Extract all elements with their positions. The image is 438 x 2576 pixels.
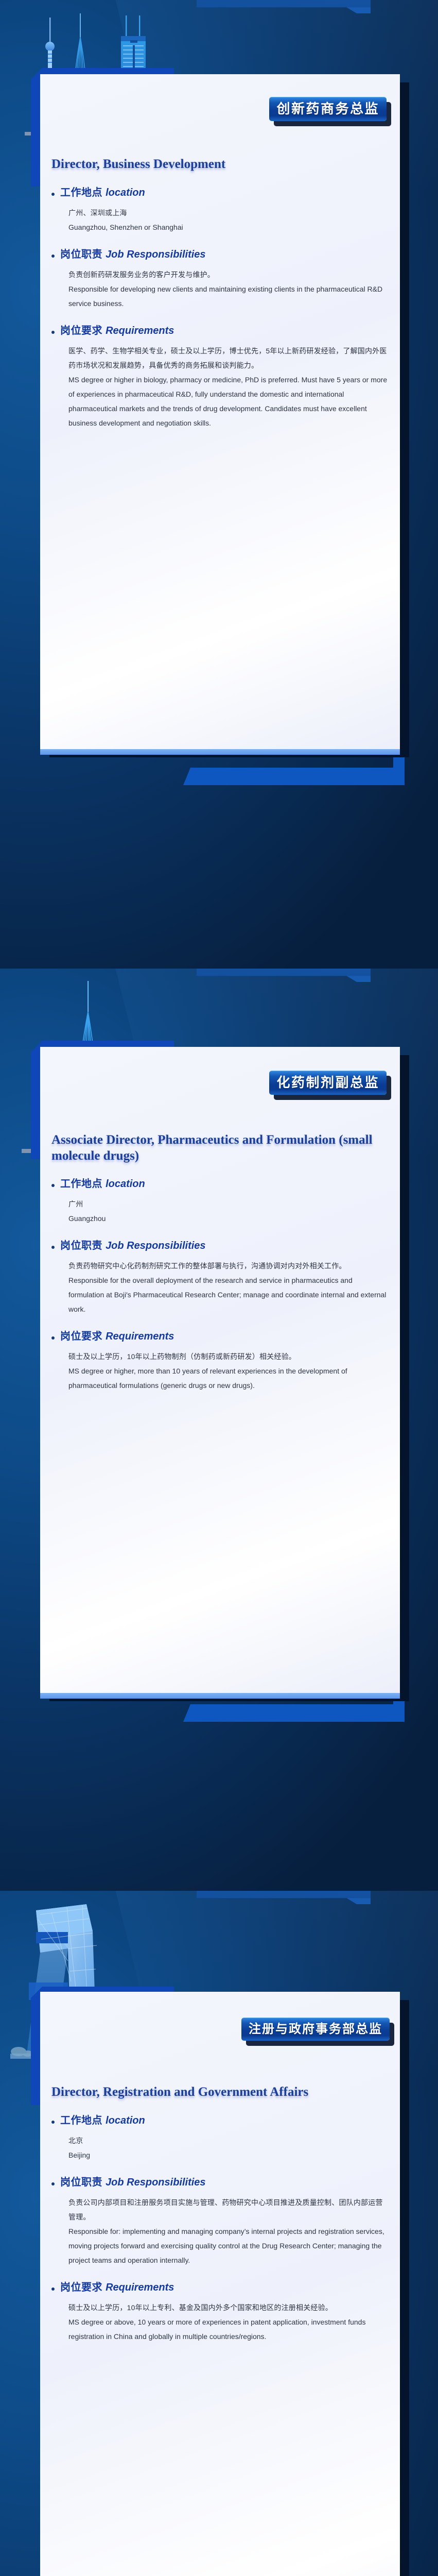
section-body-location: 广州、深圳或上海 Guangzhou, Shenzhen or Shanghai	[40, 206, 400, 234]
job-badge-title: 注册与政府事务部总监	[241, 2018, 390, 2041]
requirements-en: MS degree or higher, more than 10 years …	[68, 1364, 389, 1393]
job-title-en: Director, Registration and Government Af…	[40, 2084, 400, 2100]
section-heading-cn: 岗位要求	[60, 325, 102, 336]
bullet-dot-icon	[51, 193, 55, 196]
section-heading-cn: 岗位要求	[60, 2282, 102, 2293]
job-panel-3: 注册与政府事务部总监 Director, Registration and Go…	[0, 1891, 438, 2576]
requirements-cn: 医学、药学、生物学相关专业，硕士及以上学历，博士优先，5年以上新药研发经验，了解…	[68, 344, 389, 372]
requirements-cn: 硕士及以上学历，10年以上药物制剂（仿制药或新药研发）相关经验。	[68, 1349, 389, 1364]
section-bullet-requirements: 岗位要求 Requirements	[40, 324, 400, 337]
responsibilities-en: Responsible for: implementing and managi…	[68, 2224, 389, 2267]
section-heading-requirements: 岗位要求 Requirements	[60, 2281, 174, 2294]
badge-container-1: 创新药商务总监	[269, 97, 387, 121]
section-heading-en: Requirements	[106, 1331, 174, 1342]
section-body-location: 北京 Beijing	[40, 2133, 400, 2162]
section-heading-location: 工作地点 location	[60, 186, 145, 199]
section-heading-location: 工作地点 location	[60, 2114, 145, 2127]
section-heading-location: 工作地点 location	[60, 1177, 145, 1191]
section-heading-en: Job Responsibilities	[106, 1240, 205, 1251]
top-chevron-ribbon-fill	[197, 1891, 371, 1904]
bullet-dot-icon	[51, 2182, 55, 2185]
location-en: Beijing	[68, 2148, 389, 2162]
location-en: Guangzhou	[68, 1211, 389, 1226]
section-heading-requirements: 岗位要求 Requirements	[60, 1330, 174, 1343]
section-body-requirements: 硕士及以上学历，10年以上专利、基金及国内外多个国家和地区的注册相关经验。 MS…	[40, 2300, 400, 2344]
section-bullet-requirements: 岗位要求 Requirements	[40, 1330, 400, 1343]
responsibilities-cn: 负责药物研究中心化药制剂研究工作的整体部署与执行，沟通协调对内对外相关工作。	[68, 1259, 389, 1273]
job-card-3: 注册与政府事务部总监 Director, Registration and Go…	[40, 1992, 400, 2576]
top-chevron-ribbon-fill	[197, 969, 371, 982]
responsibilities-cn: 负责创新药研发服务业务的客户开发与维护。	[68, 267, 389, 282]
section-body-location: 广州 Guangzhou	[40, 1197, 400, 1226]
bullet-dot-icon	[51, 255, 55, 258]
section-heading-en: Job Responsibilities	[106, 2177, 205, 2188]
section-body-responsibilities: 负责药物研究中心化药制剂研究工作的整体部署与执行，沟通协调对内对外相关工作。 R…	[40, 1259, 400, 1316]
section-body-requirements: 硕士及以上学历，10年以上药物制剂（仿制药或新药研发）相关经验。 MS degr…	[40, 1349, 400, 1393]
section-bullet-location: 工作地点 location	[40, 1177, 400, 1191]
job-panel-1: 创新药商务总监 Director, Business Development 工…	[0, 0, 438, 969]
section-heading-cn: 工作地点	[60, 187, 102, 198]
section-heading-cn: 工作地点	[60, 1178, 102, 1190]
section-heading-en: location	[106, 1178, 145, 1190]
job-card-1: 创新药商务总监 Director, Business Development 工…	[40, 74, 400, 749]
badge-container-2: 化药制剂副总监	[269, 1071, 387, 1095]
job-postings-page: 创新药商务总监 Director, Business Development 工…	[0, 0, 438, 2576]
job-title-en: Associate Director, Pharmaceutics and Fo…	[40, 1132, 400, 1164]
bullet-dot-icon	[51, 2121, 55, 2124]
bullet-dot-icon	[51, 1336, 55, 1340]
section-heading-en: Requirements	[106, 325, 174, 336]
section-heading-en: location	[106, 2115, 145, 2126]
job-badge-title: 创新药商务总监	[269, 97, 387, 121]
bullet-dot-icon	[51, 1184, 55, 1187]
location-cn: 广州、深圳或上海	[68, 206, 389, 220]
requirements-cn: 硕士及以上学历，10年以上专利、基金及国内外多个国家和地区的注册相关经验。	[68, 2300, 389, 2315]
accent-frame-bottom-horizontal	[183, 1704, 405, 1722]
section-heading-cn: 岗位职责	[60, 249, 102, 260]
section-heading-cn: 岗位职责	[60, 2177, 102, 2188]
bullet-dot-icon	[51, 331, 55, 334]
section-body-responsibilities: 负责创新药研发服务业务的客户开发与维护。 Responsible for dev…	[40, 267, 400, 311]
section-heading-en: Requirements	[106, 2282, 174, 2293]
section-heading-responsibilities: 岗位职责 Job Responsibilities	[60, 2176, 206, 2189]
section-bullet-responsibilities: 岗位职责 Job Responsibilities	[40, 248, 400, 261]
section-heading-requirements: 岗位要求 Requirements	[60, 324, 174, 337]
accent-frame-bottom-horizontal	[183, 768, 405, 785]
location-cn: 北京	[68, 2133, 389, 2148]
responsibilities-en: Responsible for the overall deployment o…	[68, 1273, 389, 1316]
bullet-dot-icon	[51, 1246, 55, 1249]
section-heading-cn: 岗位职责	[60, 1240, 102, 1251]
top-chevron-ribbon-fill	[197, 0, 371, 13]
section-bullet-responsibilities: 岗位职责 Job Responsibilities	[40, 2176, 400, 2189]
bullet-dot-icon	[51, 2287, 55, 2291]
section-heading-en: Job Responsibilities	[106, 249, 205, 260]
section-heading-cn: 岗位要求	[60, 1331, 102, 1342]
location-cn: 广州	[68, 1197, 389, 1211]
section-bullet-location: 工作地点 location	[40, 186, 400, 199]
responsibilities-en: Responsible for developing new clients a…	[68, 282, 389, 311]
section-heading-en: location	[106, 187, 145, 198]
section-heading-responsibilities: 岗位职责 Job Responsibilities	[60, 248, 206, 261]
section-heading-cn: 工作地点	[60, 2115, 102, 2126]
job-title-en: Director, Business Development	[40, 157, 400, 173]
responsibilities-cn: 负责公司内部项目和注册服务项目实施与管理、药物研究中心项目推进及质量控制、团队内…	[68, 2195, 389, 2224]
location-en: Guangzhou, Shenzhen or Shanghai	[68, 220, 389, 234]
section-body-responsibilities: 负责公司内部项目和注册服务项目实施与管理、药物研究中心项目推进及质量控制、团队内…	[40, 2195, 400, 2267]
section-bullet-requirements: 岗位要求 Requirements	[40, 2281, 400, 2294]
requirements-en: MS degree or above, 10 years or more of …	[68, 2315, 389, 2344]
section-body-requirements: 医学、药学、生物学相关专业，硕士及以上学历，博士优先，5年以上新药研发经验，了解…	[40, 344, 400, 430]
job-badge-title: 化药制剂副总监	[269, 1071, 387, 1095]
job-panel-2: 化药制剂副总监 Associate Director, Pharmaceutic…	[0, 969, 438, 1891]
section-bullet-location: 工作地点 location	[40, 2114, 400, 2127]
section-heading-responsibilities: 岗位职责 Job Responsibilities	[60, 1239, 206, 1252]
section-bullet-responsibilities: 岗位职责 Job Responsibilities	[40, 1239, 400, 1252]
requirements-en: MS degree or higher in biology, pharmacy…	[68, 372, 389, 430]
badge-container-3: 注册与政府事务部总监	[241, 2018, 390, 2041]
job-card-2: 化药制剂副总监 Associate Director, Pharmaceutic…	[40, 1047, 400, 1693]
